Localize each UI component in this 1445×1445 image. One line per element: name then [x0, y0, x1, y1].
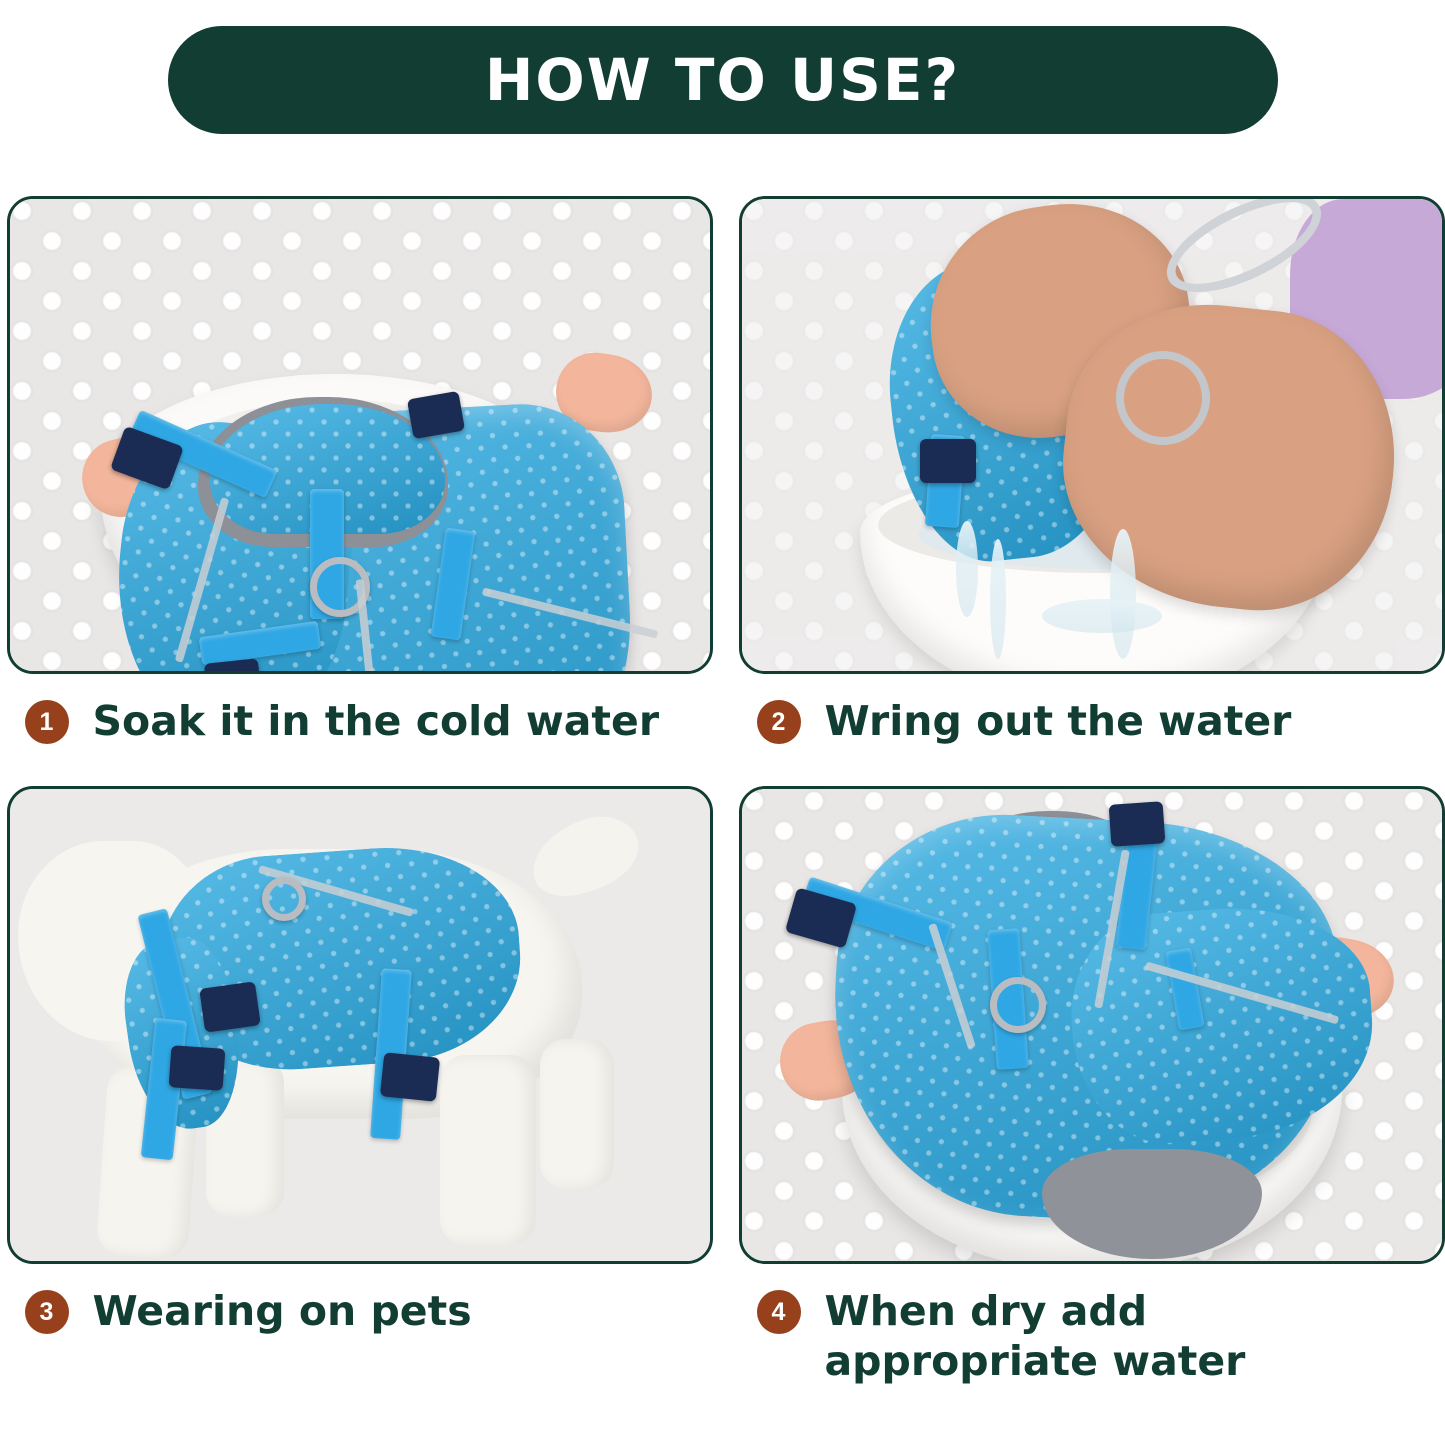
step-1-caption: 1 Soak it in the cold water	[7, 696, 707, 746]
water-drip-3	[1110, 529, 1136, 659]
step-4: 4 When dry add appropriate water	[739, 786, 1439, 1386]
step-1: 1 Soak it in the cold water	[7, 196, 707, 746]
dog-leg-rear-near	[440, 1055, 536, 1245]
step-2-caption: 2 Wring out the water	[739, 696, 1439, 746]
step-3: 3 Wearing on pets	[7, 786, 707, 1386]
step-4-photo	[739, 786, 1445, 1264]
step-4-badge: 4	[757, 1290, 801, 1334]
step-4-text: When dry add appropriate water	[825, 1286, 1425, 1386]
vest-buckle-belly	[379, 1052, 439, 1102]
harness-d-ring-2	[990, 977, 1046, 1033]
step-1-text: Soak it in the cold water	[93, 696, 660, 746]
harness-buckle-hanging	[920, 439, 976, 483]
water-drip-1	[956, 521, 978, 617]
step-3-photo	[7, 786, 713, 1264]
how-to-use-infographic: HOW TO USE?	[0, 0, 1445, 1445]
step-3-badge: 3	[25, 1290, 69, 1334]
steps-grid: 1 Soak it in the cold water	[14, 196, 1431, 1386]
step-3-text: Wearing on pets	[93, 1286, 472, 1336]
step-1-photo	[7, 196, 713, 674]
step-2-text: Wring out the water	[825, 696, 1292, 746]
step-2: 2 Wring out the water	[739, 196, 1439, 746]
water-splash	[1042, 599, 1162, 633]
step-4-caption: 4 When dry add appropriate water	[739, 1286, 1439, 1386]
dog-leg-rear-far	[540, 1039, 614, 1189]
water-drip-2	[990, 539, 1006, 659]
header-banner: HOW TO USE?	[168, 26, 1278, 134]
harness-o-ring	[1116, 351, 1210, 445]
page-title: HOW TO USE?	[485, 51, 960, 109]
vest-buckle-chest	[168, 1045, 225, 1091]
harness-buckle-top-2	[1108, 801, 1165, 847]
step-3-caption: 3 Wearing on pets	[7, 1286, 707, 1336]
vest-d-ring	[262, 877, 306, 921]
step-2-badge: 2	[757, 700, 801, 744]
vest-buckle-front	[199, 981, 261, 1032]
step-1-badge: 1	[25, 700, 69, 744]
step-2-photo	[739, 196, 1445, 674]
